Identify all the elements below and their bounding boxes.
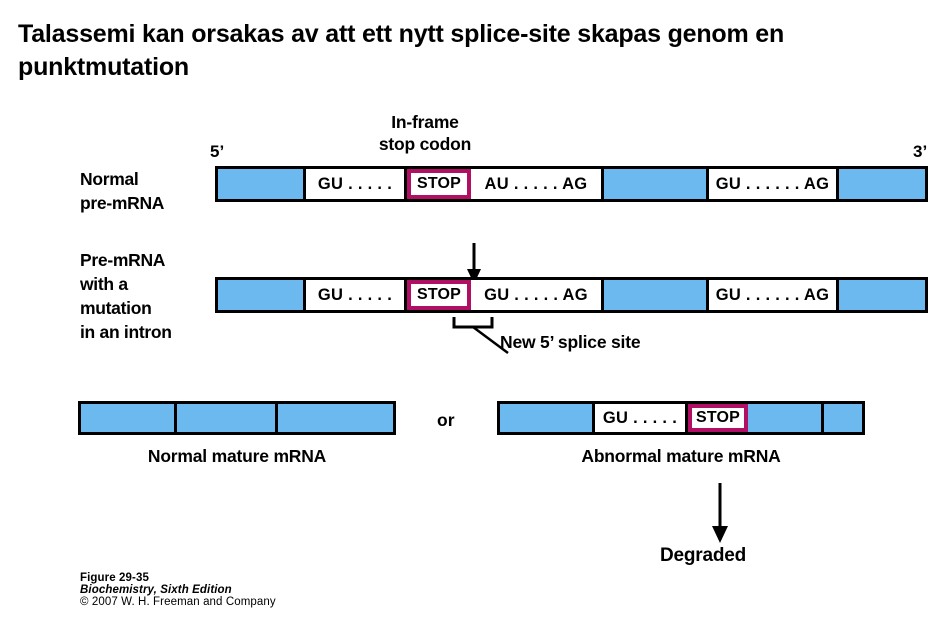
degraded-label: Degraded	[660, 545, 746, 567]
abnormal-mature-mrna-caption: Abnormal mature mRNA	[497, 446, 865, 467]
mutated-pre-mrna-bar: GU . . . . . STOP GU . . . . . AG GU . .…	[215, 277, 928, 313]
in-frame-stop-codon-annotation: In-frame stop codon	[345, 112, 505, 156]
segment-intron: GU . . . . . . AG	[709, 169, 839, 199]
segment-exon	[500, 404, 595, 432]
segment-exon	[604, 169, 709, 199]
segment-new-splice-intron: GU . . . . . AG	[471, 280, 604, 310]
segment-stop-codon: STOP	[688, 404, 748, 432]
row-label-mutated-line2: with a	[80, 272, 172, 296]
five-prime-label: 5’	[210, 142, 224, 162]
segment-exon	[218, 280, 306, 310]
page-title: Talassemi kan orsakas av att ett nytt sp…	[18, 18, 918, 84]
figure-credits: Figure 29-35 Biochemistry, Sixth Edition…	[80, 572, 276, 608]
segment-stop-codon: STOP	[407, 169, 471, 199]
segment-exon	[748, 404, 824, 432]
credit-copyright: © 2007 W. H. Freeman and Company	[80, 596, 276, 608]
segment-exon	[177, 404, 278, 432]
row-label-mutated-line3: mutation	[80, 296, 172, 320]
segment-exon	[278, 404, 393, 432]
in-frame-stop-codon-line2: stop codon	[345, 134, 505, 156]
segment-exon	[604, 280, 709, 310]
segment-intron: GU . . . . .	[306, 169, 407, 199]
degradation-arrow	[707, 483, 733, 545]
row-label-normal-pre-mrna: Normal pre-mRNA	[80, 167, 164, 215]
three-prime-label: 3’	[913, 142, 927, 162]
row-label-normal-pre-mrna-line2: pre-mRNA	[80, 191, 164, 215]
abnormal-mature-mrna-bar: GU . . . . . STOP	[497, 401, 865, 435]
row-label-mutated-pre-mrna: Pre-mRNA with a mutation in an intron	[80, 248, 172, 345]
segment-intron: AU . . . . . AG	[471, 169, 604, 199]
segment-intron: GU . . . . . . AG	[709, 280, 839, 310]
segment-exon	[824, 404, 862, 432]
credit-book-title: Biochemistry, Sixth Edition	[80, 584, 276, 596]
new-splice-site-label: New 5’ splice site	[500, 332, 640, 353]
row-label-mutated-line4: in an intron	[80, 320, 172, 344]
segment-exon	[218, 169, 306, 199]
segment-intron: GU . . . . .	[306, 280, 407, 310]
normal-pre-mrna-bar: GU . . . . . STOP AU . . . . . AG GU . .…	[215, 166, 928, 202]
segment-exon	[81, 404, 177, 432]
in-frame-stop-codon-line1: In-frame	[345, 112, 505, 134]
or-connector-label: or	[437, 410, 455, 431]
credit-figure-number: Figure 29-35	[80, 572, 276, 584]
row-label-mutated-line1: Pre-mRNA	[80, 248, 172, 272]
segment-stop-codon: STOP	[407, 280, 471, 310]
normal-mature-mrna-caption: Normal mature mRNA	[78, 446, 396, 467]
segment-exon	[839, 169, 925, 199]
normal-mature-mrna-bar	[78, 401, 396, 435]
row-label-normal-pre-mrna-line1: Normal	[80, 167, 164, 191]
segment-exon	[839, 280, 925, 310]
segment-intron: GU . . . . .	[595, 404, 688, 432]
